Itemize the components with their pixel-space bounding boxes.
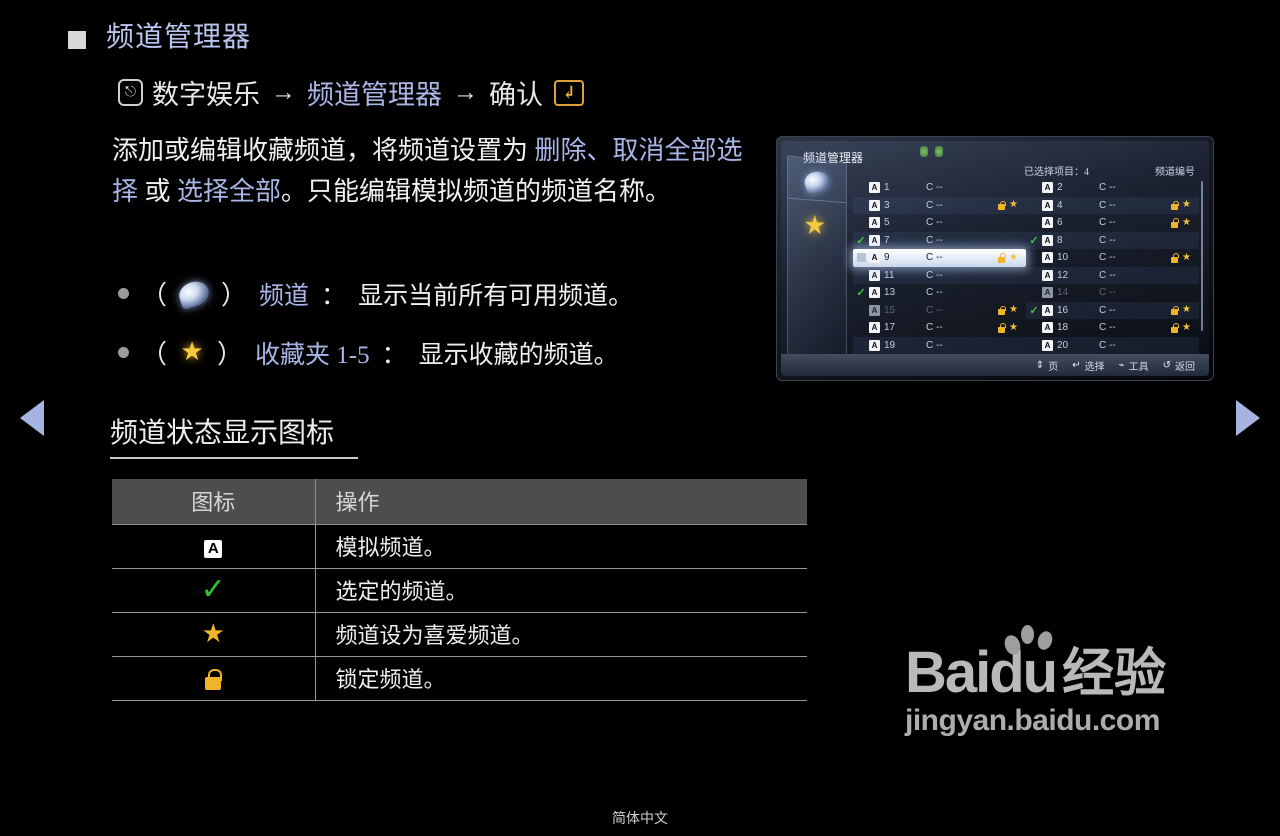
channel-number: 17 xyxy=(884,322,926,333)
tv-bottom-bar: ⇕页↵选择⌁工具↺返回 xyxy=(781,354,1209,376)
paragraph-accent-3: 选择全部 xyxy=(177,177,281,206)
analog-channel-badge-icon: A xyxy=(1042,235,1053,246)
lock-icon xyxy=(1171,204,1178,210)
channel-name: C -- xyxy=(1099,252,1157,263)
channel-flags: ★ xyxy=(1171,323,1199,333)
channel-number: 19 xyxy=(884,340,926,351)
channel-name: C -- xyxy=(926,270,984,281)
channel-row[interactable]: A14C -- xyxy=(1026,284,1199,302)
tv-screenshot-panel: 频道管理器 已选择项目：4 频道编号 ★ A1C --A3C --★A5C --… xyxy=(776,136,1214,381)
tv-bottom-action-label: 返回 xyxy=(1175,358,1195,373)
watermark-brand-cn: 经验 xyxy=(1062,648,1166,700)
channel-number: 9 xyxy=(884,252,926,263)
satellite-dish-icon xyxy=(802,169,832,194)
watermark-url: jingyan.baidu.com xyxy=(905,704,1205,738)
tv-bottom-action-label: 选择 xyxy=(1085,358,1105,373)
tv-bottom-action[interactable]: ⇕页 xyxy=(1036,358,1058,373)
analog-channel-badge-icon: A xyxy=(1042,287,1053,298)
row-description: 选定的频道。 xyxy=(315,568,807,612)
star-icon: ★ xyxy=(1182,218,1191,228)
bullet-label-channel: 频道 xyxy=(259,276,309,312)
green-indicator-icon xyxy=(935,146,943,157)
channel-row[interactable]: A15C --★ xyxy=(853,302,1026,320)
channel-row[interactable]: ✓A13C -- xyxy=(853,284,1026,302)
channel-number: 14 xyxy=(1057,287,1099,298)
bullet-dot-icon xyxy=(118,288,129,299)
channel-number: 5 xyxy=(884,217,926,228)
star-icon: ★ xyxy=(803,211,826,238)
footer-language: 简体中文 xyxy=(0,808,1280,828)
tv-bottom-action[interactable]: ↺返回 xyxy=(1163,358,1195,373)
channel-number: 11 xyxy=(884,270,926,281)
channel-name: C -- xyxy=(926,217,984,228)
channel-row[interactable]: A5C -- xyxy=(853,214,1026,232)
channel-name: C -- xyxy=(926,305,984,316)
channel-row[interactable]: ✓A16C --★ xyxy=(1026,302,1199,320)
remote-hand-icon: ⎋ xyxy=(118,79,143,106)
check-mark-cell: ✓ xyxy=(112,568,315,612)
channel-number: 20 xyxy=(1057,340,1099,351)
analog-channel-badge-icon: A xyxy=(204,540,222,558)
path-step-2: 频道管理器 xyxy=(307,73,442,112)
channel-name: C -- xyxy=(1099,287,1157,298)
close-paren: ） xyxy=(217,334,243,371)
subsection-title: 频道状态显示图标 xyxy=(110,411,358,459)
lock-icon xyxy=(1171,327,1178,333)
channel-list-right-column: A2C --A4C --★A6C --★✓A8C --A10C --★A12C … xyxy=(1026,179,1199,354)
channel-row[interactable]: ✓A8C -- xyxy=(1026,232,1199,250)
channel-row[interactable]: A19C -- xyxy=(853,337,1026,355)
star-cell: ★ xyxy=(112,612,315,656)
lock-icon xyxy=(205,677,221,690)
channel-row[interactable]: A1C -- xyxy=(853,179,1026,197)
channel-number: 16 xyxy=(1057,305,1099,316)
enter-key-icon: ↲ xyxy=(554,80,584,106)
channel-row[interactable]: A20C -- xyxy=(1026,337,1199,355)
channel-row[interactable]: A4C --★ xyxy=(1026,197,1199,215)
close-paren: ） xyxy=(221,275,247,312)
row-description: 锁定频道。 xyxy=(315,656,807,700)
analog-channel-badge-icon: A xyxy=(1042,182,1053,193)
square-bullet-icon xyxy=(68,31,86,49)
analog-channel-badge-icon: A xyxy=(869,322,880,333)
open-paren: （ xyxy=(141,275,167,312)
channel-name: C -- xyxy=(926,235,984,246)
table-row: ✓ 选定的频道。 xyxy=(112,568,807,612)
bullet-label-favorites: 收藏夹 1-5 xyxy=(255,335,370,371)
channel-status-icon-table: 图标 操作 A 模拟频道。 ✓ 选定的频道。 ★ 频道设为喜爱频 xyxy=(112,479,807,701)
channel-name: C -- xyxy=(1099,322,1157,333)
analog-channel-badge-icon: A xyxy=(869,182,880,193)
lock-icon xyxy=(998,204,1005,210)
check-mark-icon: ✓ xyxy=(853,234,869,247)
star-icon: ★ xyxy=(1182,323,1191,333)
previous-page-arrow[interactable] xyxy=(20,400,44,436)
channel-flags: ★ xyxy=(1171,305,1199,315)
star-icon: ★ xyxy=(1009,253,1018,263)
channel-row[interactable]: A9C --★ xyxy=(853,249,1026,267)
analog-channel-badge-icon: A xyxy=(869,305,880,316)
analog-channel-badge-icon: A xyxy=(1042,305,1053,316)
channel-number: 12 xyxy=(1057,270,1099,281)
star-icon: ★ xyxy=(1009,200,1018,210)
star-icon: ★ xyxy=(1009,323,1018,333)
star-icon: ★ xyxy=(1182,200,1191,210)
channel-name: C -- xyxy=(1099,182,1157,193)
return-arrow-icon: ↺ xyxy=(1163,360,1171,371)
channel-name: C -- xyxy=(926,322,984,333)
selected-count-label: 已选择项目：4 xyxy=(1024,163,1089,178)
channel-number: 1 xyxy=(884,182,926,193)
analog-channel-badge-icon: A xyxy=(1042,340,1053,351)
channel-flags: ★ xyxy=(998,323,1026,333)
section-heading: 频道管理器 xyxy=(68,22,251,54)
channel-flags: ★ xyxy=(1171,253,1199,263)
tv-bottom-action[interactable]: ↵选择 xyxy=(1072,358,1104,373)
paragraph-text-1: 添加或编辑收藏频道，将频道设置为 xyxy=(112,136,535,165)
table-row: A 模拟频道。 xyxy=(112,524,807,568)
analog-channel-badge-icon: A xyxy=(869,235,880,246)
menu-path: ⎋ 数字娱乐 → 频道管理器 → 确认 ↲ xyxy=(118,73,584,112)
channel-number: 10 xyxy=(1057,252,1099,263)
channel-flags: ★ xyxy=(998,253,1026,263)
analog-channel-badge-icon: A xyxy=(1042,270,1053,281)
tv-screen: 频道管理器 已选择项目：4 频道编号 ★ A1C --A3C --★A5C --… xyxy=(781,141,1209,376)
channel-name: C -- xyxy=(926,182,984,193)
path-arrow-2: → xyxy=(451,79,480,107)
channel-row[interactable]: ✓A7C -- xyxy=(853,232,1026,250)
star-icon: ★ xyxy=(202,619,225,648)
channel-row[interactable]: A18C --★ xyxy=(1026,319,1199,337)
scrollbar[interactable] xyxy=(1201,181,1203,331)
channel-row[interactable]: A17C --★ xyxy=(853,319,1026,337)
channel-number: 2 xyxy=(1057,182,1099,193)
table-row: 锁定频道。 xyxy=(112,656,807,700)
sidebar-divider xyxy=(788,198,846,203)
channel-number: 3 xyxy=(884,200,926,211)
channel-row[interactable]: A11C -- xyxy=(853,267,1026,285)
bullet-colon: ： xyxy=(321,276,346,312)
channel-name: C -- xyxy=(926,340,984,351)
satellite-dish-icon xyxy=(176,277,212,309)
open-paren: （ xyxy=(141,334,167,371)
channel-row[interactable]: A6C --★ xyxy=(1026,214,1199,232)
channel-name: C -- xyxy=(926,252,984,263)
channel-number-column-header: 频道编号 xyxy=(1155,163,1195,178)
channel-number: 7 xyxy=(884,235,926,246)
check-mark-icon: ✓ xyxy=(853,286,869,299)
channel-number: 4 xyxy=(1057,200,1099,211)
channel-checkbox[interactable] xyxy=(853,253,869,262)
paw-print-icon xyxy=(997,621,1063,655)
path-arrow-1: → xyxy=(269,79,298,107)
check-mark-icon: ✓ xyxy=(201,573,226,606)
header-icon: 图标 xyxy=(112,479,315,524)
next-page-arrow[interactable] xyxy=(1236,400,1260,436)
channel-row[interactable]: A2C -- xyxy=(1026,179,1199,197)
channel-number: 18 xyxy=(1057,322,1099,333)
star-icon: ★ xyxy=(179,340,205,366)
paragraph-text-3: 。只能编辑模拟频道的频道名称。 xyxy=(281,177,671,206)
tools-icon: ⌁ xyxy=(1119,360,1125,371)
lock-icon xyxy=(998,257,1005,263)
baidu-watermark: Baidu 经验 jingyan.baidu.com xyxy=(905,645,1205,738)
tv-bottom-action[interactable]: ⌁工具 xyxy=(1119,358,1149,373)
row-description: 模拟频道。 xyxy=(315,524,807,568)
channel-row[interactable]: A10C --★ xyxy=(1026,249,1199,267)
analog-channel-badge-icon: A xyxy=(1042,200,1053,211)
analog-channel-badge-icon: A xyxy=(869,287,880,298)
path-step-1: 数字娱乐 xyxy=(152,73,260,112)
channel-name: C -- xyxy=(1099,235,1157,246)
check-mark-icon: ✓ xyxy=(1026,234,1042,247)
lock-icon xyxy=(1171,222,1178,228)
paragraph-text-2: 或 xyxy=(138,177,177,206)
channel-name: C -- xyxy=(1099,270,1157,281)
tv-category-sidebar[interactable]: ★ xyxy=(787,155,847,368)
paragraph-accent-1: 删除、 xyxy=(535,136,613,165)
list-item: （ ） 频道： 显示当前所有可用频道。 xyxy=(118,275,758,312)
channel-number: 15 xyxy=(884,305,926,316)
channel-name: C -- xyxy=(926,287,984,298)
updown-arrows-icon: ⇕ xyxy=(1036,360,1044,371)
page-title: 频道管理器 xyxy=(106,22,251,54)
channel-flags: ★ xyxy=(1171,200,1199,210)
channel-flags: ★ xyxy=(998,200,1026,210)
analog-channel-badge-icon: A xyxy=(869,270,880,281)
lock-icon xyxy=(1171,257,1178,263)
channel-flags: ★ xyxy=(1171,218,1199,228)
check-mark-icon: ✓ xyxy=(1026,304,1042,317)
path-step-3: 确认 xyxy=(489,73,543,112)
lock-icon xyxy=(1171,309,1178,315)
green-indicator-icon xyxy=(920,146,928,157)
manual-page: 频道管理器 ⎋ 数字娱乐 → 频道管理器 → 确认 ↲ 添加或编辑收藏频道，将频… xyxy=(0,0,1280,836)
channel-number: 13 xyxy=(884,287,926,298)
channel-list[interactable]: A1C --A3C --★A5C --✓A7C --A9C --★A11C --… xyxy=(853,179,1199,346)
channel-number: 6 xyxy=(1057,217,1099,228)
channel-name: C -- xyxy=(1099,200,1157,211)
channel-number: 8 xyxy=(1057,235,1099,246)
star-icon: ★ xyxy=(1009,305,1018,315)
list-item: （ ★ ） 收藏夹 1-5： 显示收藏的频道。 xyxy=(118,334,758,371)
channel-list-left-column: A1C --A3C --★A5C --✓A7C --A9C --★A11C --… xyxy=(853,179,1026,354)
analog-channel-badge-icon: A xyxy=(869,217,880,228)
bullet-dot-icon xyxy=(118,347,129,358)
tv-bottom-action-label: 工具 xyxy=(1129,358,1149,373)
star-icon: ★ xyxy=(1182,253,1191,263)
table-header-row: 图标 操作 xyxy=(112,479,807,524)
tv-status-icons xyxy=(920,146,943,157)
analog-channel-badge-icon: A xyxy=(1042,322,1053,333)
table-row: ★ 频道设为喜爱频道。 xyxy=(112,612,807,656)
analog-channel-badge-icon: A xyxy=(869,252,880,263)
channel-row[interactable]: A3C --★ xyxy=(853,197,1026,215)
star-icon: ★ xyxy=(1182,305,1191,315)
bullet-desc-channel: 显示当前所有可用频道。 xyxy=(358,276,633,312)
lock-icon xyxy=(998,327,1005,333)
channel-name: C -- xyxy=(1099,305,1157,316)
channel-row[interactable]: A12C -- xyxy=(1026,267,1199,285)
bullet-colon: ： xyxy=(382,335,407,371)
channel-name: C -- xyxy=(1099,340,1157,351)
description-paragraph: 添加或编辑收藏频道，将频道设置为 删除、取消全部选择 或 选择全部。只能编辑模拟… xyxy=(112,130,752,212)
analog-channel-badge-icon: A xyxy=(869,340,880,351)
lock-cell xyxy=(112,656,315,700)
channel-flags: ★ xyxy=(998,305,1026,315)
analog-channel-badge-icon: A xyxy=(1042,252,1053,263)
header-action: 操作 xyxy=(315,479,807,524)
analog-channel-badge-cell: A xyxy=(112,524,315,568)
row-description: 频道设为喜爱频道。 xyxy=(315,612,807,656)
channel-name: C -- xyxy=(1099,217,1157,228)
enter-key-icon: ↵ xyxy=(1072,360,1080,371)
analog-channel-badge-icon: A xyxy=(869,200,880,211)
channel-name: C -- xyxy=(926,200,984,211)
bullet-desc-favorites: 显示收藏的频道。 xyxy=(419,335,619,371)
tv-bottom-action-label: 页 xyxy=(1048,358,1058,373)
lock-icon xyxy=(998,309,1005,315)
analog-channel-badge-icon: A xyxy=(1042,217,1053,228)
feature-bullet-list: （ ） 频道： 显示当前所有可用频道。 （ ★ ） 收藏夹 1-5： 显示收藏的… xyxy=(118,275,758,393)
